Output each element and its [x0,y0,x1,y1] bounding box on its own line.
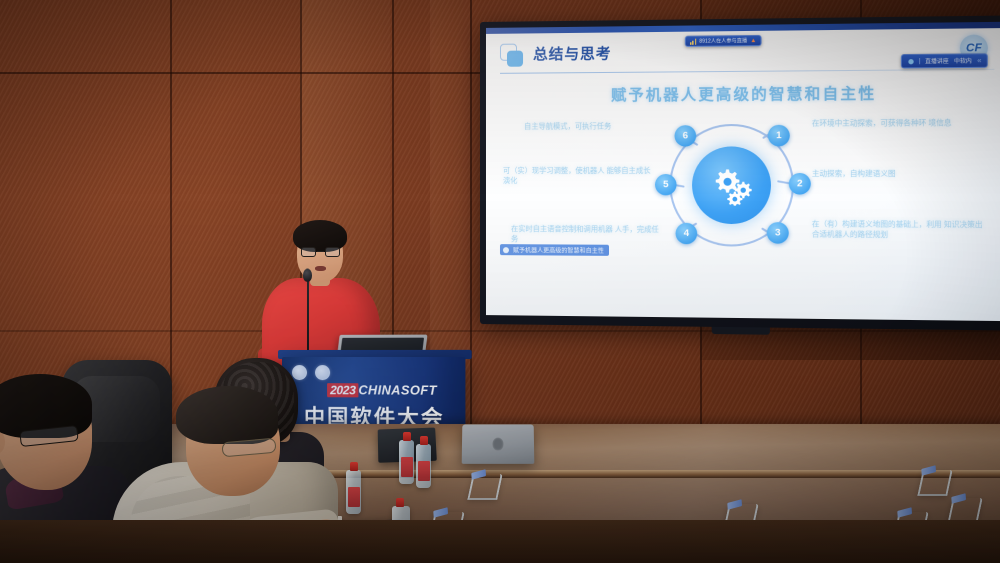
slide-subtitle-text: 赋予机器人更高级的智慧和自主性 [513,245,604,255]
display-stand [712,327,770,335]
water-bottle [346,470,361,514]
slide-main-title: 赋予机器人更高级的智慧和自主性 [486,81,1000,106]
diagram-node-3: 3 [767,222,789,244]
diagram-label-1: 在环境中主动探索，可获得各种环 境信息 [812,118,985,129]
attendee-center-hair [176,386,278,444]
channel-label: 直播讲座 [925,57,949,66]
name-card-holder [467,474,503,500]
flame-icon: ▲ [750,38,756,44]
viewer-count-badge: 8912人在人参与直播 ▲ [685,35,762,47]
microphone-stem [307,279,309,359]
diagram-node-6: 6 [675,125,697,146]
slide-header-title: 总结与思考 [533,43,611,65]
badge-dot-icon [503,247,509,253]
conference-year: 2023 [327,383,358,397]
download-icon [908,59,913,64]
presenter-mouth [315,266,326,271]
rounded-square-icon [500,44,524,68]
channel-badge[interactable]: 直播讲座 中软内 « [900,53,987,68]
diagram-node-1: 1 [768,125,790,147]
circular-process-diagram: 1 2 3 4 5 6 [660,114,803,256]
diagram-label-4: 在实时自主语音控制和调用机器 人手，完成任务 [511,224,663,246]
presenter-glasses-icon [301,247,340,257]
conference-emblem-right-icon [315,365,330,380]
signal-bars-icon [690,38,696,44]
water-bottle [399,440,414,484]
name-card-holder [917,470,953,496]
macbook-laptop [462,424,535,463]
channel-secondary-label: 中软内 [954,57,972,65]
slide-subtitle-badge: 赋予机器人更高级的智慧和自主性 [500,244,609,256]
diagram-node-4: 4 [676,223,698,244]
microphone-icon [303,269,312,282]
double-chevron-icon: « [977,57,980,64]
slide-top-bar [486,22,1000,34]
presentation-display: 总结与思考 CF 8912人在人参与直播 ▲ 直播讲座 中软内 « 赋予机器人更… [480,15,1000,330]
slide-header-divider [500,69,994,74]
diagram-node-5: 5 [655,174,677,195]
viewer-count-label: 8912人在人参与直播 [699,37,747,45]
diagram-node-2: 2 [789,173,811,195]
diagram-label-5: 可（实）现学习调整，使机器人 能够自主成长演化 [503,166,655,187]
diagram-label-2: 主动探索，自构建语义图 [812,169,985,180]
diagram-label-6: 自主导航模式，可执行任务 [524,121,677,132]
conference-brand: CHINASOFT [358,383,436,398]
diagram-label-3: 在（有）构建语义地图的基础上，利用 知识决策出合适机器人的路径规划 [812,219,985,241]
water-bottle [416,444,431,488]
apple-logo-icon [492,438,503,451]
table-front-edge [0,520,1000,563]
gears-icon [692,146,771,224]
conference-room-scene: 总结与思考 CF 8912人在人参与直播 ▲ 直播讲座 中软内 « 赋予机器人更… [0,0,1000,563]
slide-content: 总结与思考 CF 8912人在人参与直播 ▲ 直播讲座 中软内 « 赋予机器人更… [486,22,1000,321]
